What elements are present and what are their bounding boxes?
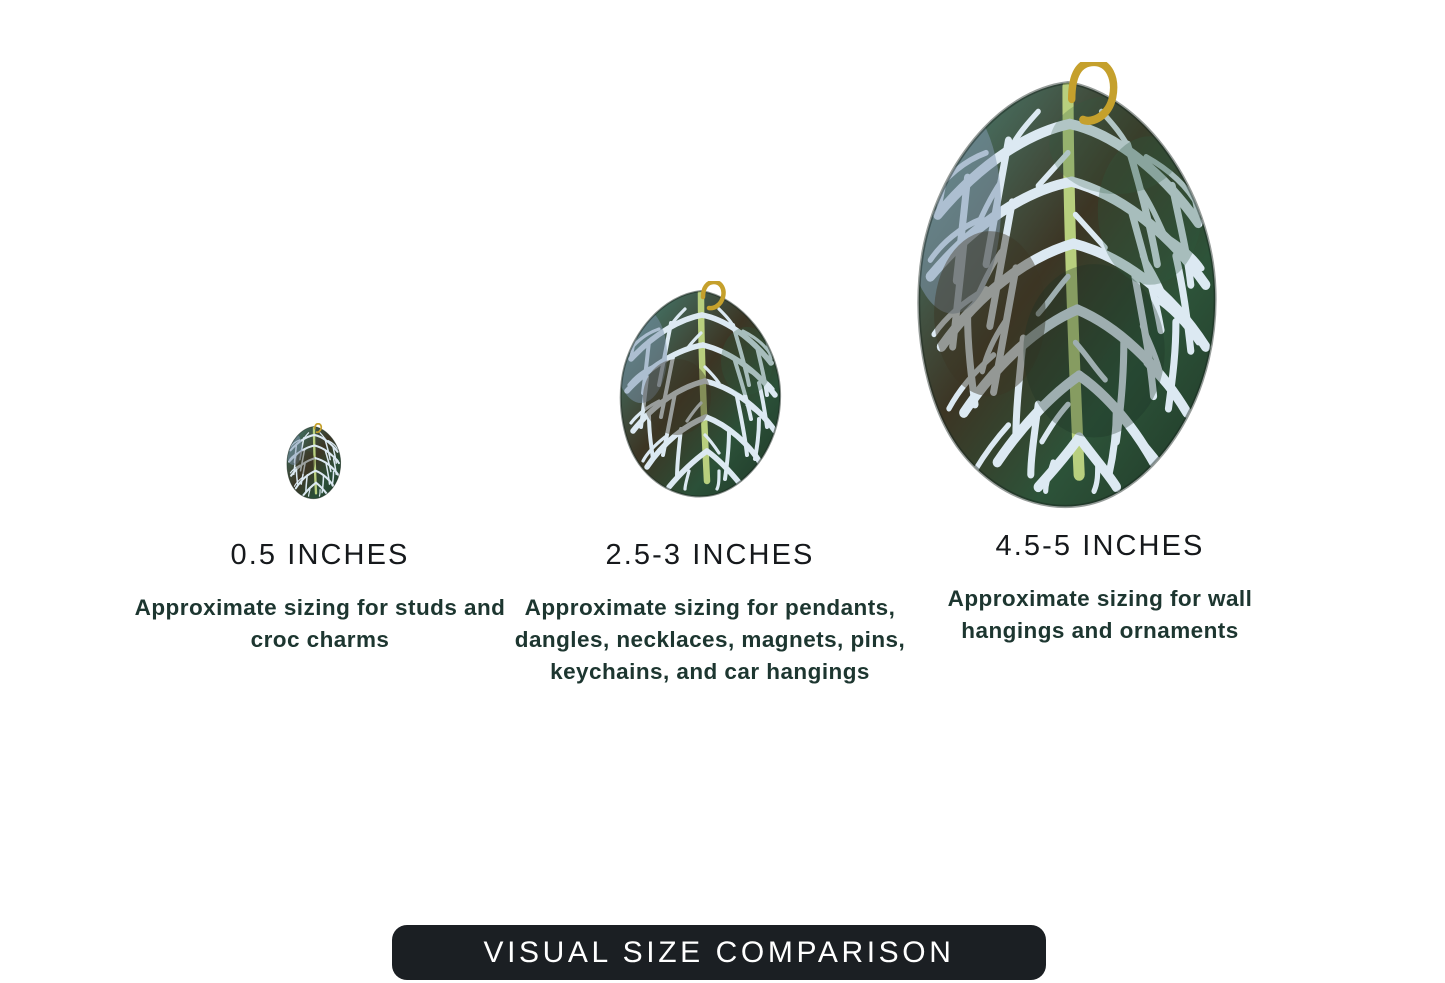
size-column-small: 0.5 INCHES Approximate sizing for studs …: [122, 540, 518, 656]
banner-label: VISUAL SIZE COMPARISON: [484, 938, 955, 968]
size-heading-small: 0.5 INCHES: [122, 540, 518, 570]
size-description-medium: Approximate sizing for pendants, dangles…: [492, 592, 928, 688]
size-column-medium: 2.5-3 INCHES Approximate sizing for pend…: [492, 540, 928, 688]
visual-size-comparison-banner: VISUAL SIZE COMPARISON: [392, 925, 1046, 980]
leaf-pendant-large-image: [908, 62, 1228, 520]
size-description-large: Approximate sizing for wall hangings and…: [902, 583, 1298, 647]
size-heading-medium: 2.5-3 INCHES: [492, 540, 928, 570]
size-heading-large: 4.5-5 INCHES: [902, 531, 1298, 561]
leaf-pendant-small-image: [285, 423, 343, 501]
comparison-stage: 0.5 INCHES Approximate sizing for studs …: [0, 0, 1445, 983]
size-column-large: 4.5-5 INCHES Approximate sizing for wall…: [902, 531, 1298, 647]
size-description-small: Approximate sizing for studs and croc ch…: [122, 592, 518, 656]
leaf-pendant-medium-image: [615, 281, 787, 503]
